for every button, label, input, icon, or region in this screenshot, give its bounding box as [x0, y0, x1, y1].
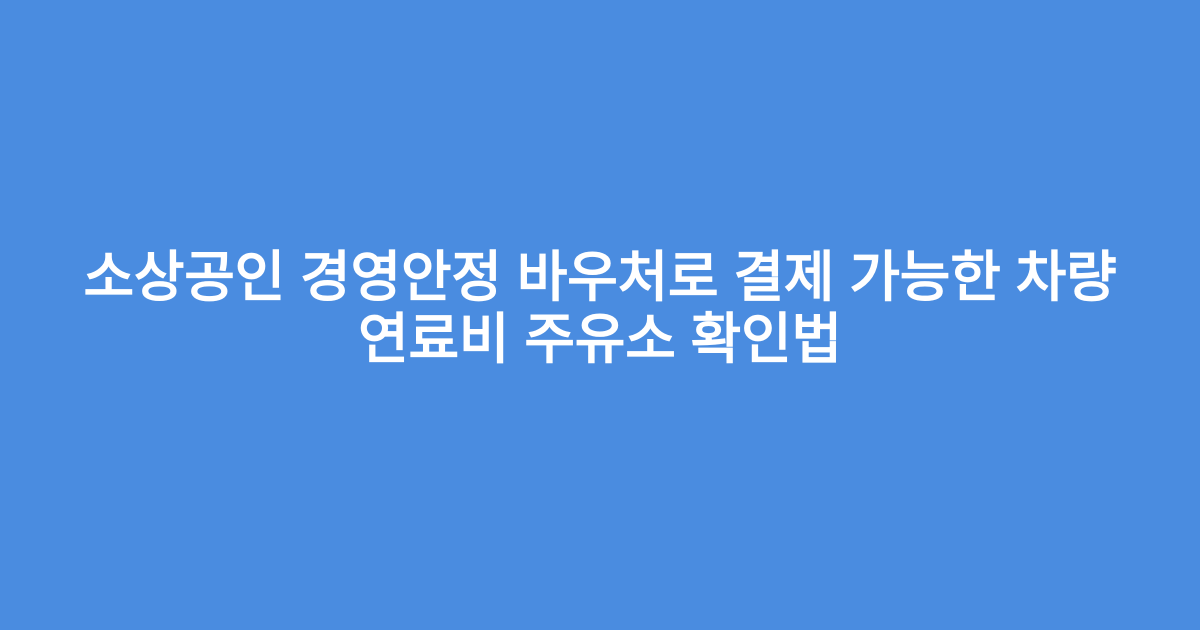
page-title: 소상공인 경영안정 바우처로 결제 가능한 차량 연료비 주유소 확인법	[0, 246, 1200, 370]
page-title-line-2: 연료비 주유소 확인법	[56, 308, 1144, 370]
page-title-line-1: 소상공인 경영안정 바우처로 결제 가능한 차량	[56, 246, 1144, 308]
og-image-card: 소상공인 경영안정 바우처로 결제 가능한 차량 연료비 주유소 확인법	[0, 0, 1200, 630]
